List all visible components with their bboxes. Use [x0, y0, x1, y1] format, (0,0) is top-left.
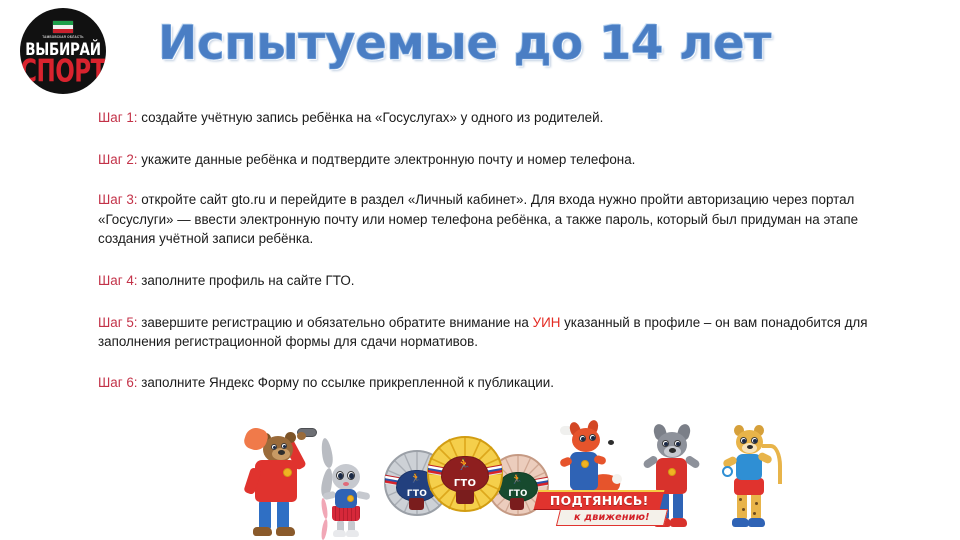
silver-torch [409, 498, 424, 510]
step-5-text-before: завершите регистрацию и обязательно обра… [138, 315, 533, 330]
wolf-leg-right [673, 492, 683, 520]
rabbit-ear-inner-left [320, 498, 328, 520]
runner-icon: 🏃 [511, 475, 522, 484]
wolf-shoe-right [670, 518, 687, 527]
rabbit-ear-inner-right [320, 519, 328, 540]
mascot-strip: 🏃 ГТО 🏃 ГТО [0, 420, 960, 540]
fox-tail-tip [612, 474, 622, 484]
leopard-tail [762, 444, 782, 484]
leopard-mascot [722, 428, 780, 538]
step-1: Шаг 1: создайте учётную запись ребёнка н… [98, 108, 898, 128]
slogan-banner: ПОДТЯНИСЬ! к движению! [536, 488, 668, 532]
bear-pupil-right [283, 445, 286, 448]
step-2-text: укажите данные ребёнка и подтвердите эле… [138, 152, 636, 167]
gold-gto-label: ГТО [442, 478, 488, 489]
leopard-nose [747, 445, 753, 449]
fox-nose [608, 440, 614, 445]
runner-icon: 🏃 [410, 474, 421, 483]
leopard-shoe-right [748, 518, 765, 527]
bear-nose [278, 450, 285, 455]
rabbit-nose [343, 482, 349, 486]
wolf-nose [669, 448, 676, 453]
rabbit-pupil-left [338, 473, 343, 479]
steps-list: Шаг 1: создайте учётную запись ребёнка н… [98, 108, 898, 392]
step-3-label: Шаг 3: [98, 192, 138, 207]
rabbit-pupil-right [349, 473, 354, 479]
rabbit-arm-right [355, 491, 370, 501]
fox-head [572, 428, 600, 452]
leopard-leg-right [751, 492, 761, 520]
bear-pupil-left [273, 446, 276, 449]
region-flag-icon [53, 21, 73, 33]
leopard-pupil-left [742, 439, 746, 443]
slogan-line1: ПОДТЯНИСЬ! [549, 493, 648, 508]
bear-shoe-left [253, 527, 272, 536]
leopard-pupil-right [753, 439, 757, 443]
step-2-label: Шаг 2: [98, 152, 138, 167]
step-4-label: Шаг 4: [98, 273, 138, 288]
bear-hand [297, 432, 306, 440]
leopard-leg-left [737, 492, 747, 520]
bear-leg-left [259, 500, 271, 530]
fox-pupil-left [581, 437, 585, 441]
logo-region-caption: ТАМБОВСКАЯ ОБЛАСТЬ [42, 35, 83, 39]
step-5: Шаг 5: завершите регистрацию и обязатель… [98, 313, 898, 352]
step-5-label: Шаг 5: [98, 315, 138, 330]
bronze-torch [510, 498, 524, 510]
step-4: Шаг 4: заполните профиль на сайте ГТО. [98, 271, 898, 291]
step-6-label: Шаг 6: [98, 375, 138, 390]
step-3: Шаг 3: откройте сайт gto.ru и перейдите … [98, 190, 898, 249]
wolf-pupil-right [676, 442, 680, 446]
logo-line-sport: СПОРТ [20, 58, 106, 86]
wolf-emblem-icon [668, 468, 676, 476]
step-6-text: заполните Яндекс Форму по ссылке прикреп… [138, 375, 554, 390]
fox-emblem-icon [581, 460, 589, 468]
bear-leg-right [277, 500, 289, 530]
step-2: Шаг 2: укажите данные ребёнка и подтверд… [98, 150, 898, 170]
step-1-text: создайте учётную запись ребёнка на «Госу… [138, 110, 604, 125]
gold-shield: 🏃 ГТО [441, 456, 489, 493]
slogan-line2-banner: к движению! [556, 509, 668, 526]
wolf-pupil-left [664, 442, 668, 446]
rabbit-shoe-left [333, 530, 346, 537]
rabbit-emblem-icon [347, 495, 354, 502]
hoop-icon [722, 466, 733, 477]
page-title: Испытуемые до 14 лет [158, 16, 771, 71]
gold-torch [456, 490, 474, 504]
bear-torso [255, 460, 297, 502]
step-5-highlight-uin: УИН [533, 315, 561, 330]
fox-pupil-right [591, 436, 595, 440]
bear-shoe-right [276, 527, 295, 536]
rabbit-mascot [322, 438, 374, 538]
leopard-shorts [734, 478, 764, 495]
rabbit-shoe-right [346, 530, 359, 537]
leopard-shoe-left [732, 518, 749, 527]
slogan-line2: к движению! [574, 512, 650, 523]
step-1-label: Шаг 1: [98, 110, 138, 125]
vybiray-sport-logo: ТАМБОВСКАЯ ОБЛАСТЬ ВЫБИРАЙ СПОРТ [20, 8, 106, 94]
page-header: ТАМБОВСКАЯ ОБЛАСТЬ ВЫБИРАЙ СПОРТ Испытуе… [0, 0, 960, 96]
slogan-line1-banner: ПОДТЯНИСЬ! [534, 490, 665, 510]
rabbit-skirt [332, 506, 360, 521]
step-3-text: откройте сайт gto.ru и перейдите в разде… [98, 192, 858, 246]
step-6: Шаг 6: заполните Яндекс Форму по ссылке … [98, 373, 898, 393]
bear-mascot [245, 428, 317, 538]
step-4-text: заполните профиль на сайте ГТО. [138, 273, 355, 288]
gto-badge-gold: 🏃 ГТО [427, 436, 503, 512]
rabbit-ear-left [320, 437, 335, 468]
runner-icon: 🏃 [457, 460, 471, 471]
bear-emblem-icon [283, 468, 292, 477]
